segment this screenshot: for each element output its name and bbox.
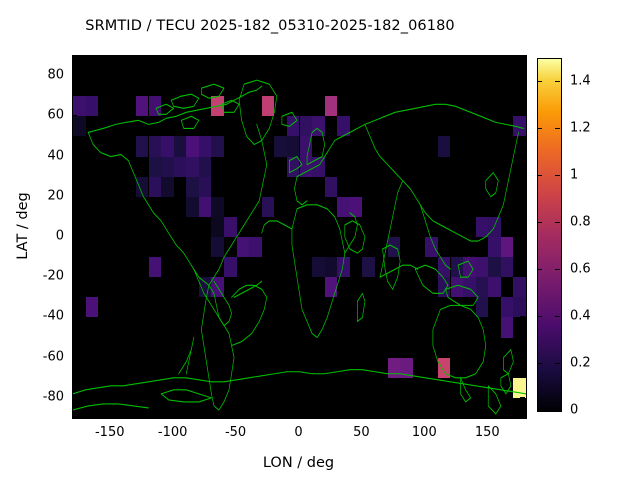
colorbar-tick-mark (537, 410, 542, 411)
x-tick-mark (173, 412, 174, 417)
y-tick-mark (520, 156, 525, 157)
colorbar-tick-mark (537, 269, 542, 270)
y-tick-label: 0 (26, 229, 64, 244)
colorbar-tick-mark (555, 81, 560, 82)
chart-title: SRMTID / TECU 2025-182_05310-2025-182_06… (0, 18, 540, 34)
y-tick-mark (520, 236, 525, 237)
y-tick-mark (72, 75, 77, 76)
colorbar-tick-mark (537, 81, 542, 82)
x-tick-label: -50 (225, 425, 246, 440)
x-tick-label: -100 (158, 425, 188, 440)
coastline-overlay (73, 56, 526, 418)
colorbar (537, 58, 562, 412)
colorbar-tick-mark (537, 128, 542, 129)
x-tick-mark (299, 412, 300, 417)
x-tick-mark (236, 412, 237, 417)
colorbar-tick-label: 1 (570, 168, 578, 183)
heatmap-cell (526, 116, 527, 136)
x-tick-label: -150 (95, 425, 125, 440)
x-tick-label: 100 (412, 425, 437, 440)
y-tick-mark (520, 276, 525, 277)
y-tick-label: 40 (26, 148, 64, 163)
x-tick-mark (173, 55, 174, 60)
y-tick-mark (520, 115, 525, 116)
colorbar-tick-mark (555, 269, 560, 270)
x-tick-label: 50 (353, 425, 370, 440)
x-tick-mark (110, 412, 111, 417)
y-tick-mark (72, 357, 77, 358)
y-tick-label: 20 (26, 188, 64, 203)
y-tick-mark (72, 316, 77, 317)
y-tick-mark (520, 357, 525, 358)
y-tick-mark (72, 397, 77, 398)
colorbar-tick-mark (537, 222, 542, 223)
colorbar-tick-label: 0 (570, 403, 578, 418)
colorbar-tick-label: 0.2 (570, 356, 591, 371)
colorbar-tick-label: 1.2 (570, 121, 591, 136)
y-tick-label: 80 (26, 68, 64, 83)
x-tick-mark (299, 55, 300, 60)
colorbar-tick-mark (555, 316, 560, 317)
colorbar-tick-label: 0.8 (570, 215, 591, 230)
y-tick-mark (520, 397, 525, 398)
colorbar-tick-label: 1.4 (570, 74, 591, 89)
y-tick-label: -40 (26, 309, 64, 324)
x-tick-mark (361, 412, 362, 417)
x-tick-label: 150 (475, 425, 500, 440)
x-tick-mark (487, 55, 488, 60)
x-tick-mark (361, 55, 362, 60)
x-axis-label: LON / deg (72, 455, 525, 471)
y-tick-mark (72, 276, 77, 277)
y-tick-mark (520, 316, 525, 317)
y-tick-label: -20 (26, 269, 64, 284)
x-tick-mark (424, 412, 425, 417)
colorbar-tick-label: 0.6 (570, 262, 591, 277)
y-tick-label: -60 (26, 349, 64, 364)
colorbar-tick-mark (555, 363, 560, 364)
colorbar-tick-mark (555, 222, 560, 223)
colorbar-tick-mark (537, 363, 542, 364)
y-tick-label: 60 (26, 108, 64, 123)
y-tick-mark (72, 236, 77, 237)
y-tick-mark (520, 75, 525, 76)
x-tick-mark (236, 55, 237, 60)
x-tick-label: 0 (294, 425, 302, 440)
y-tick-mark (72, 156, 77, 157)
y-tick-mark (72, 196, 77, 197)
y-tick-label: -80 (26, 389, 64, 404)
figure-canvas: SRMTID / TECU 2025-182_05310-2025-182_06… (0, 0, 640, 480)
colorbar-tick-mark (555, 175, 560, 176)
y-tick-mark (520, 196, 525, 197)
x-tick-mark (110, 55, 111, 60)
x-tick-mark (424, 55, 425, 60)
colorbar-tick-mark (555, 410, 560, 411)
heatmap-plot-area[interactable] (72, 55, 527, 419)
y-tick-mark (72, 115, 77, 116)
colorbar-tick-label: 0.4 (570, 309, 591, 324)
colorbar-tick-mark (537, 175, 542, 176)
x-tick-mark (487, 412, 488, 417)
colorbar-tick-mark (537, 316, 542, 317)
colorbar-tick-mark (555, 128, 560, 129)
